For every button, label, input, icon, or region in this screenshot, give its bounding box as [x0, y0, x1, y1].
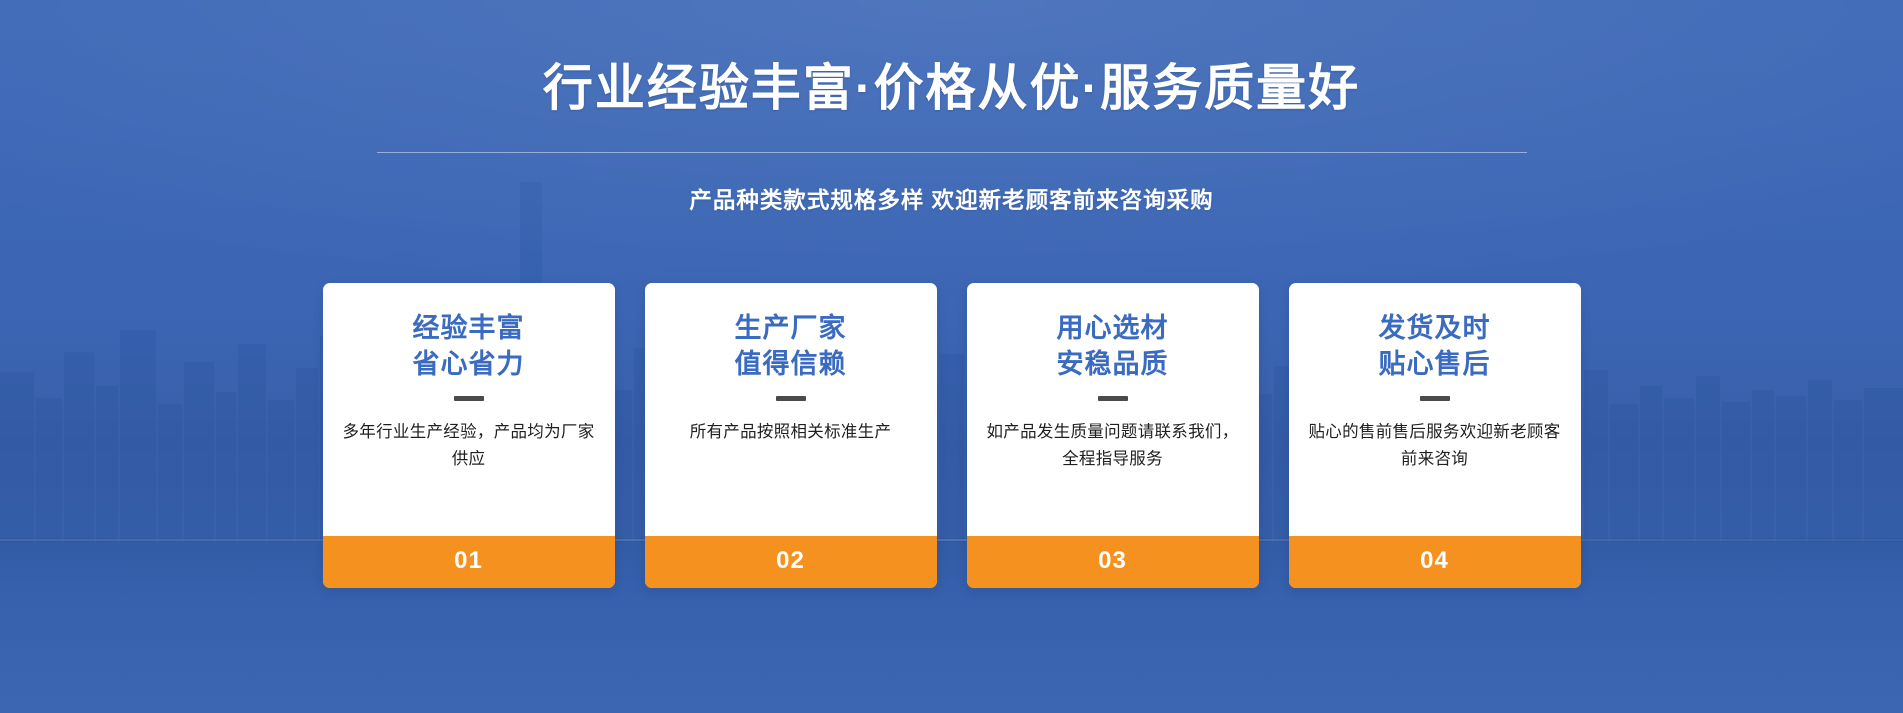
page-subtitle: 产品种类款式规格多样 欢迎新老顾客前来咨询采购 — [0, 183, 1903, 215]
card-title: 发货及时 贴心售后 — [1379, 311, 1491, 382]
title-divider-wrap — [0, 139, 1903, 167]
page-title: 行业经验丰富·价格从优·服务质量好 — [0, 58, 1903, 119]
title-dash-divider — [776, 396, 806, 401]
card-body: 用心选材 安稳品质 如产品发生质量问题请联系我们，全程指导服务 — [967, 283, 1259, 536]
card-description: 所有产品按照相关标准生产 — [690, 419, 892, 446]
card-body: 经验丰富 省心省力 多年行业生产经验，产品均为厂家供应 — [323, 283, 615, 536]
card-body: 生产厂家 值得信赖 所有产品按照相关标准生产 — [645, 283, 937, 536]
card-number-badge: 04 — [1289, 536, 1581, 588]
divider-line — [377, 152, 1527, 153]
feature-card-03[interactable]: 用心选材 安稳品质 如产品发生质量问题请联系我们，全程指导服务 03 — [967, 283, 1259, 588]
card-number-badge: 02 — [645, 536, 937, 588]
title-dash-divider — [454, 396, 484, 401]
feature-card-list: 经验丰富 省心省力 多年行业生产经验，产品均为厂家供应 01 生产厂家 值得信赖… — [323, 283, 1581, 588]
card-title: 用心选材 安稳品质 — [1057, 311, 1169, 382]
card-number-badge: 03 — [967, 536, 1259, 588]
card-description: 如产品发生质量问题请联系我们，全程指导服务 — [985, 419, 1241, 472]
promo-banner: 行业经验丰富·价格从优·服务质量好 产品种类款式规格多样 欢迎新老顾客前来咨询采… — [0, 0, 1903, 713]
feature-card-04[interactable]: 发货及时 贴心售后 贴心的售前售后服务欢迎新老顾客前来咨询 04 — [1289, 283, 1581, 588]
feature-card-01[interactable]: 经验丰富 省心省力 多年行业生产经验，产品均为厂家供应 01 — [323, 283, 615, 588]
card-description: 多年行业生产经验，产品均为厂家供应 — [341, 419, 597, 472]
card-body: 发货及时 贴心售后 贴心的售前售后服务欢迎新老顾客前来咨询 — [1289, 283, 1581, 536]
card-title: 生产厂家 值得信赖 — [735, 311, 847, 382]
feature-card-02[interactable]: 生产厂家 值得信赖 所有产品按照相关标准生产 02 — [645, 283, 937, 588]
card-description: 贴心的售前售后服务欢迎新老顾客前来咨询 — [1307, 419, 1563, 472]
title-dash-divider — [1420, 396, 1450, 401]
card-number-badge: 01 — [323, 536, 615, 588]
card-title: 经验丰富 省心省力 — [413, 311, 525, 382]
title-dash-divider — [1098, 396, 1128, 401]
banner-header: 行业经验丰富·价格从优·服务质量好 产品种类款式规格多样 欢迎新老顾客前来咨询采… — [0, 58, 1903, 215]
